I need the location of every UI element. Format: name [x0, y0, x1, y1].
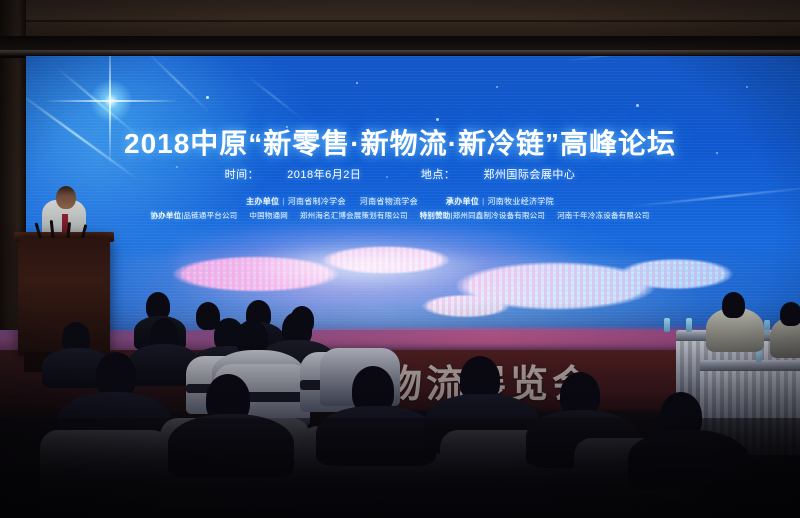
- host-org-2: 河南省物流学会: [360, 197, 418, 206]
- host-org-1: 河南省制冷学会: [288, 197, 346, 206]
- sponsor-1: 郑州同鑫制冷设备有限公司: [453, 211, 545, 220]
- supporter-line: 协办单位|品链通平台公司中国物通网郑州海名汇博会展策划有限公司特别赞助|郑州同鑫…: [0, 210, 800, 221]
- host-label: 主办单位: [246, 197, 279, 206]
- coorganizer-2: 中国物通网: [249, 211, 288, 220]
- coorganizer-label: 协办单位: [151, 211, 182, 220]
- water-bottle: [686, 318, 692, 332]
- conference-photo: 2018中原“新零售·新物流·新冷链”高峰论坛 时间：2018年6月2日 地点：…: [0, 0, 800, 518]
- organizer-org-1: 河南牧业经济学院: [488, 197, 554, 206]
- sponsor-label: 特别赞助: [420, 211, 451, 220]
- event-time: 时间：2018年6月2日: [211, 169, 376, 181]
- organizer-line: 主办单位|河南省制冷学会河南省物流学会承办单位|河南牧业经济学院: [0, 196, 800, 207]
- coorganizer-3: 郑州海名汇博会展策划有限公司: [300, 211, 408, 220]
- guest-head: [722, 292, 745, 318]
- speaker-head: [56, 186, 76, 209]
- water-bottle: [764, 320, 770, 333]
- organizer-label: 承办单位: [446, 197, 479, 206]
- foreground-shadow: [0, 418, 800, 518]
- sponsor-2: 河南千年冷冻设备有限公司: [557, 211, 649, 220]
- coorganizer-1: 品链通平台公司: [183, 211, 237, 220]
- event-meta: 时间：2018年6月2日 地点：郑州国际会展中心: [0, 166, 800, 182]
- forum-title: 2018中原“新零售·新物流·新冷链”高峰论坛: [0, 122, 800, 162]
- event-place: 地点：郑州国际会展中心: [407, 169, 590, 181]
- guest-head: [780, 302, 800, 326]
- water-bottle: [664, 318, 670, 332]
- wall-seam: [0, 20, 800, 22]
